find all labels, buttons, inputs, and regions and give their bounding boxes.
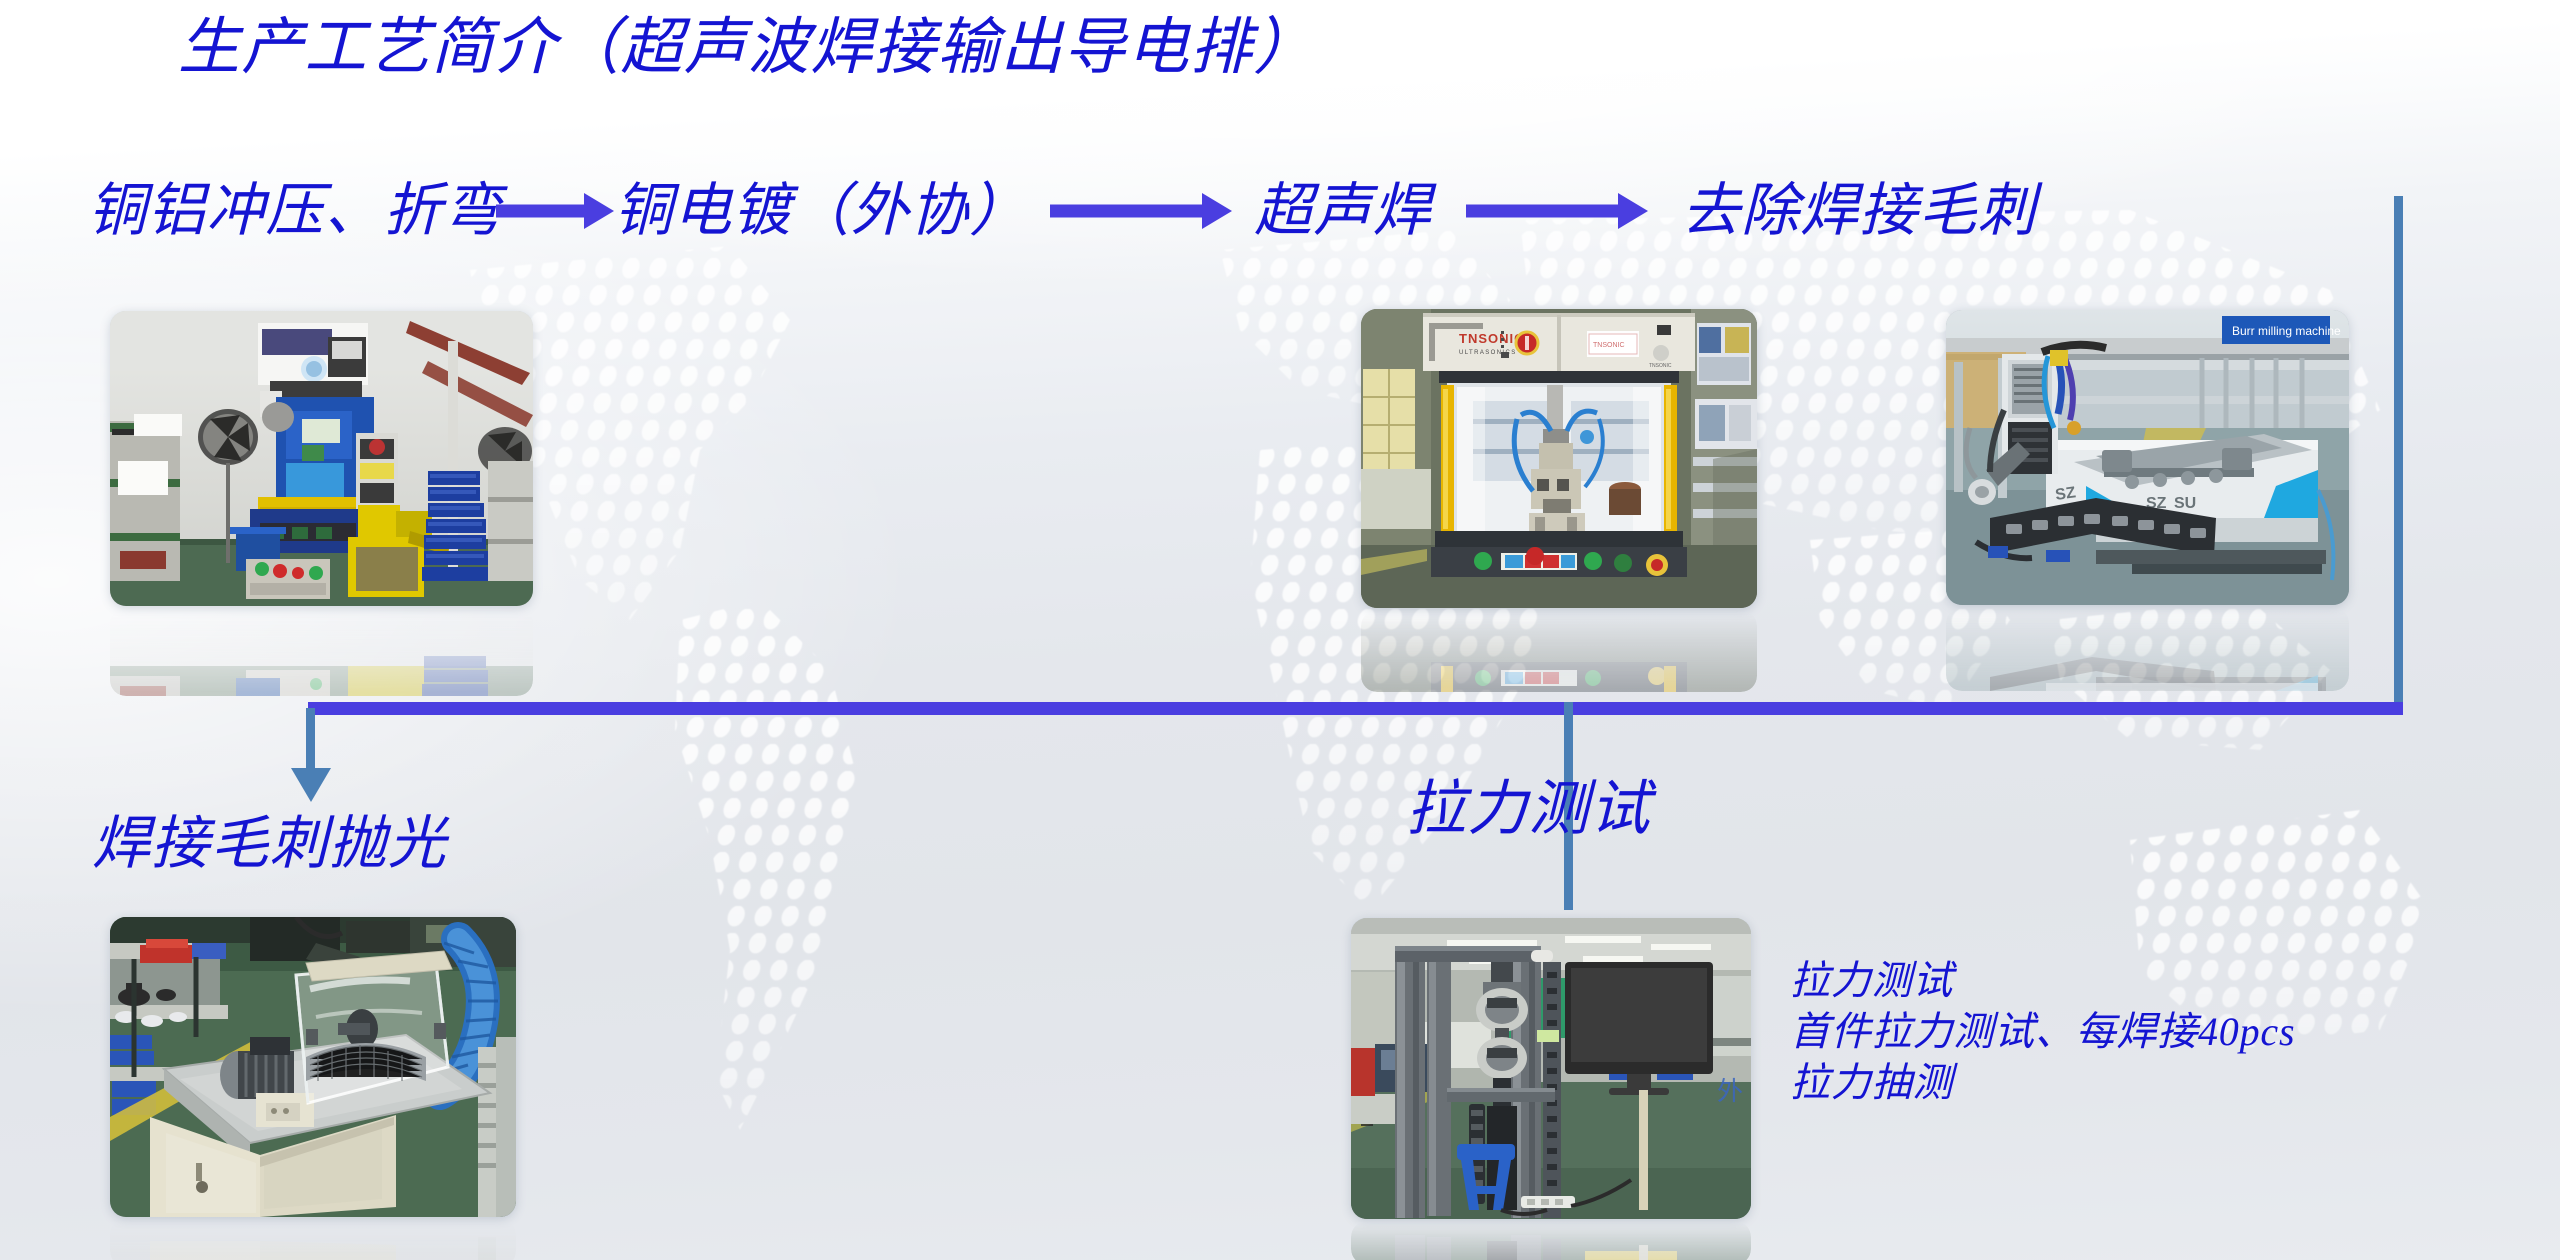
photo-stamping-press-wrap [110, 311, 533, 696]
photo-ultrasonic-welder: TNSONIC ULTRASONICS TNSONIC TNSONIC [1361, 309, 1757, 608]
svg-text:Burr milling machine: Burr milling machine [2232, 324, 2341, 338]
photo-stamping-press-reflection [110, 608, 533, 696]
photo-tensile-tester-wrap: 外 [1351, 918, 1751, 1260]
label-tensile-test: 拉力测试 [1406, 760, 1651, 847]
photo-tensile-tester-reflection [1351, 1221, 1751, 1260]
process-flow-row: 铜铝冲压、折弯 铜电镀（外协） 超声焊 去除焊接毛刺 [88, 168, 2037, 254]
page-title: 生产工艺简介（超声波焊接输出导电排） [178, 10, 1316, 88]
connector-horizontal-bus [308, 702, 2403, 715]
label-polishing: 焊接毛刺抛光 [92, 796, 447, 880]
flow-step-plating: 铜电镀（外协） [614, 182, 1028, 240]
flow-step-deburr: 去除焊接毛刺 [1682, 182, 2037, 240]
connector-left-vertical [306, 708, 315, 772]
note-line-3: 拉力抽测 [1790, 1057, 2295, 1108]
photo-ultrasonic-welder-reflection [1361, 610, 1757, 692]
svg-text:SU: SU [2174, 495, 2196, 512]
svg-text:TNSONIC: TNSONIC [1649, 363, 1672, 369]
photo-deburring-machine-wrap: Burr milling machine [1946, 310, 2349, 691]
slide-canvas: 生产工艺简介（超声波焊接输出导电排） 铜铝冲压、折弯 铜电镀（外协） 超声焊 去… [0, 0, 2560, 1260]
photo-polishing-bench [110, 917, 516, 1217]
photo-deburring-machine-reflection [1946, 607, 2349, 691]
flow-arrow-icon-2 [1050, 194, 1232, 228]
photo-polishing-bench-reflection [110, 1219, 516, 1260]
connector-right-vertical [2394, 196, 2403, 714]
flow-step-stamping: 铜铝冲压、折弯 [88, 182, 502, 240]
svg-text:TNSONIC: TNSONIC [1593, 342, 1625, 349]
photo-deburring-machine: Burr milling machine [1946, 310, 2349, 605]
photo-stamping-press [110, 311, 533, 606]
tensile-test-notes: 拉力测试 首件拉力测试、每焊接40pcs 拉力抽测 [1790, 955, 2295, 1109]
photo-ultrasonic-welder-wrap: TNSONIC ULTRASONICS TNSONIC TNSONIC [1361, 309, 1757, 692]
note-line-1: 拉力测试 [1790, 955, 2295, 1006]
photo-polishing-bench-wrap [110, 917, 516, 1260]
flow-arrow-icon-1 [496, 194, 614, 228]
svg-text:SZ: SZ [2054, 484, 2077, 504]
note-line-2: 首件拉力测试、每焊接40pcs [1790, 1006, 2295, 1057]
flow-step-ultrasonic-weld: 超声焊 [1254, 182, 1431, 240]
svg-text:外: 外 [1717, 1077, 1743, 1106]
photo-tensile-tester: 外 [1351, 918, 1751, 1219]
flow-arrow-icon-3 [1466, 194, 1648, 228]
